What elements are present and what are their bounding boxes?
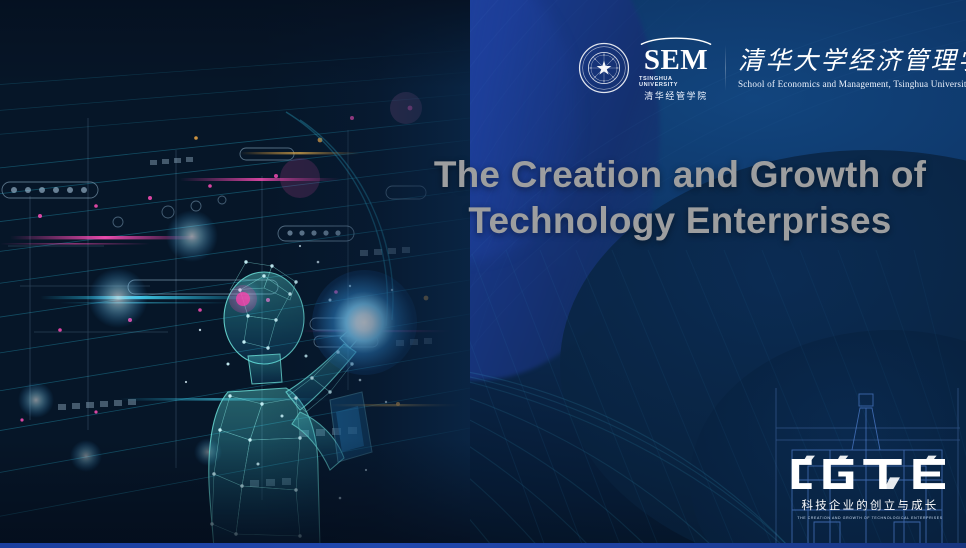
cgte-english-tagline: THE CREATION AND GROWTH OF TECHNOLOGICAL… [790,515,950,519]
bottom-accent-bar [0,543,966,548]
title-slide: SEM TSINGHUA UNIVERSITY 清华经管学院 清华大学经济管理学… [0,0,966,548]
sem-subtitle: TSINGHUA UNIVERSITY [639,77,713,88]
school-english-name: School of Economics and Management, Tsin… [738,79,966,89]
school-name-block: 清华大学经济管理学院 School of Economics and Manag… [738,48,966,90]
sem-acronym: SEM [644,46,708,75]
title-line-1: The Creation and Growth of [434,154,926,195]
wireframe-figure [0,0,470,548]
sem-chinese-name: 清华经管学院 [644,92,708,101]
cgte-chinese-tagline: 科技企业的创立与成长 [790,497,950,513]
digital-artwork [0,0,470,548]
school-chinese-name: 清华大学经济管理学院 [738,48,966,75]
cgte-text-block: 科技企业的创立与成长 THE CREATION AND GROWTH OF TE… [790,454,950,520]
cgte-wordmark-icon [790,454,957,494]
title-line-2: Technology Enterprises [420,198,940,244]
cgte-logo: 科技企业的创立与成长 THE CREATION AND GROWTH OF TE… [770,388,966,548]
logo-divider [725,45,726,91]
tsinghua-sem-logo: SEM TSINGHUA UNIVERSITY 清华经管学院 清华大学经济管理学… [578,36,966,101]
tsinghua-seal-icon [578,42,630,94]
slide-title: The Creation and Growth of Technology En… [420,152,940,245]
sem-wordmark: SEM TSINGHUA UNIVERSITY 清华经管学院 [639,36,713,101]
